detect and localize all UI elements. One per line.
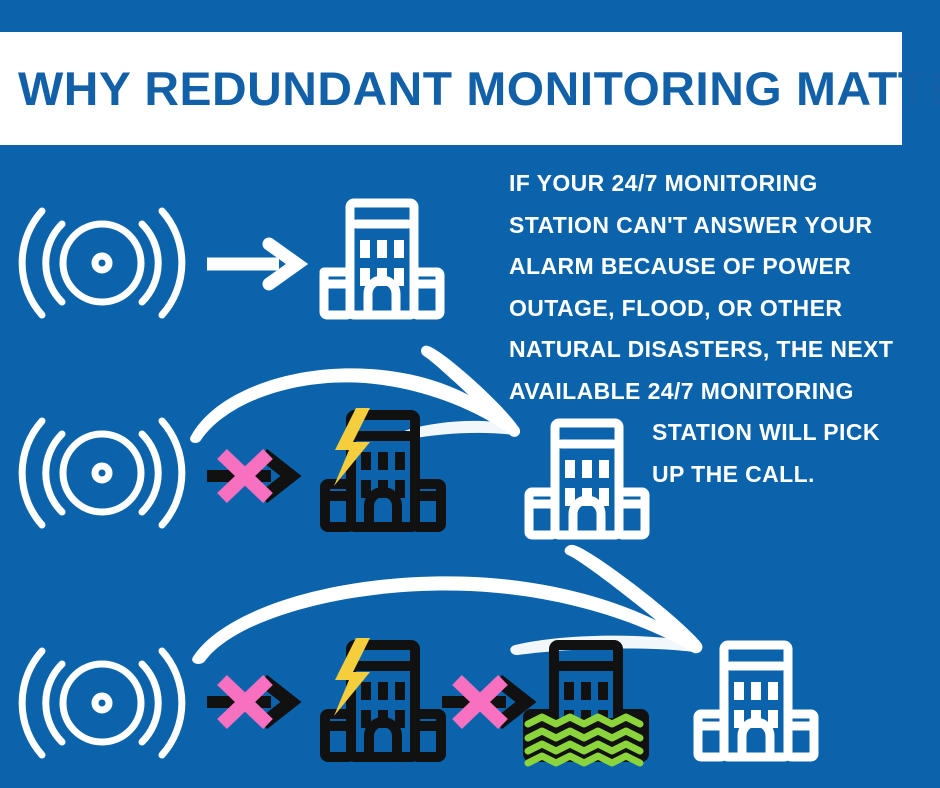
- body-line-1: IF YOUR 24/7 MONITORING: [509, 163, 911, 205]
- blocked-arrow-icon: [205, 442, 301, 510]
- title-banner: WHY REDUNDANT MONITORING MATTERS: [0, 32, 902, 145]
- alarm-signal-icon: [18, 408, 186, 538]
- body-line-3: ALARM BECAUSE OF POWER: [509, 246, 911, 288]
- straight-arrow-icon: [205, 238, 303, 290]
- page-title: WHY REDUNDANT MONITORING MATTERS: [18, 61, 940, 116]
- body-line-5: NATURAL DISASTERS, THE NEXT: [509, 329, 911, 371]
- alarm-signal-icon: [18, 638, 186, 768]
- monitoring-station-building-icon: [692, 640, 820, 765]
- blocked-arrow-icon: [205, 668, 301, 736]
- monitoring-station-building-icon: [523, 418, 651, 543]
- power-outage-building-icon: [318, 408, 448, 536]
- infographic-poster: WHY REDUNDANT MONITORING MATTERS IF YOUR…: [0, 0, 940, 788]
- flooded-building-icon: [520, 638, 652, 766]
- alarm-signal-icon: [18, 198, 186, 328]
- power-outage-building-icon: [318, 638, 448, 766]
- body-line-4: OUTAGE, FLOOD, OR OTHER: [509, 288, 911, 330]
- monitoring-station-building-icon: [318, 198, 446, 323]
- body-line-6: AVAILABLE 24/7 MONITORING: [509, 371, 911, 413]
- body-line-2: STATION CAN'T ANSWER YOUR: [509, 205, 911, 247]
